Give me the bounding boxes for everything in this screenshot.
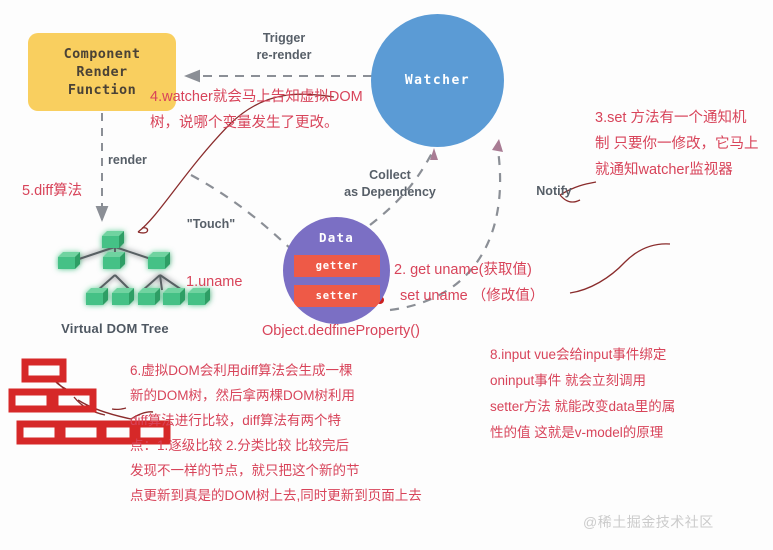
getter-box: getter [294, 255, 380, 277]
component-box-line3: Function [68, 81, 136, 99]
label-collect-as-dependency: Collect as Dependency [325, 167, 455, 201]
annotation-step-5: 5.diff算法 [22, 178, 132, 204]
setter-box: setter [294, 285, 380, 307]
label-trigger-rerender: Trigger re-render [224, 30, 344, 64]
annotation-step-6: 6.虚拟DOM会利用diff算法会生成一棵 新的DOM树，然后拿两棵DOM树利用… [130, 358, 490, 508]
data-circle: Data getter setter [283, 217, 390, 324]
annotation-step-4: 4.watcher就会马上告知虚拟DOM 树，说哪个变量发生了更改。 [150, 84, 550, 136]
annotation-step-8: 8.input vue会给input事件绑定 oninput事件 就会立刻调用 … [490, 342, 760, 446]
annotation-step-3: 3.set 方法有一个通知机 制 只要你一修改，它马上 就通知watcher监视… [595, 105, 773, 183]
annotation-step-1: 1.uname [186, 269, 276, 295]
label-touch: "Touch" [176, 216, 246, 233]
component-box-line1: Component [64, 45, 141, 63]
label-notify: Notify [524, 183, 584, 200]
annotation-step-2-get: 2. get uname(获取值) [394, 257, 594, 283]
annotation-object-define-property: Object.dedfineProperty() [262, 318, 492, 344]
edge-touch [191, 175, 292, 250]
component-box-line2: Render [76, 63, 127, 81]
annotation-step-2-set: set uname （修改值） [400, 283, 610, 309]
diagram-canvas: Component Render Function Watcher Data g… [0, 0, 773, 550]
virtual-dom-tree-label: Virtual DOM Tree [42, 321, 188, 336]
data-label: Data [283, 230, 390, 245]
watermark: @稀土掘金技术社区 [583, 512, 714, 532]
label-render: render [108, 152, 182, 169]
